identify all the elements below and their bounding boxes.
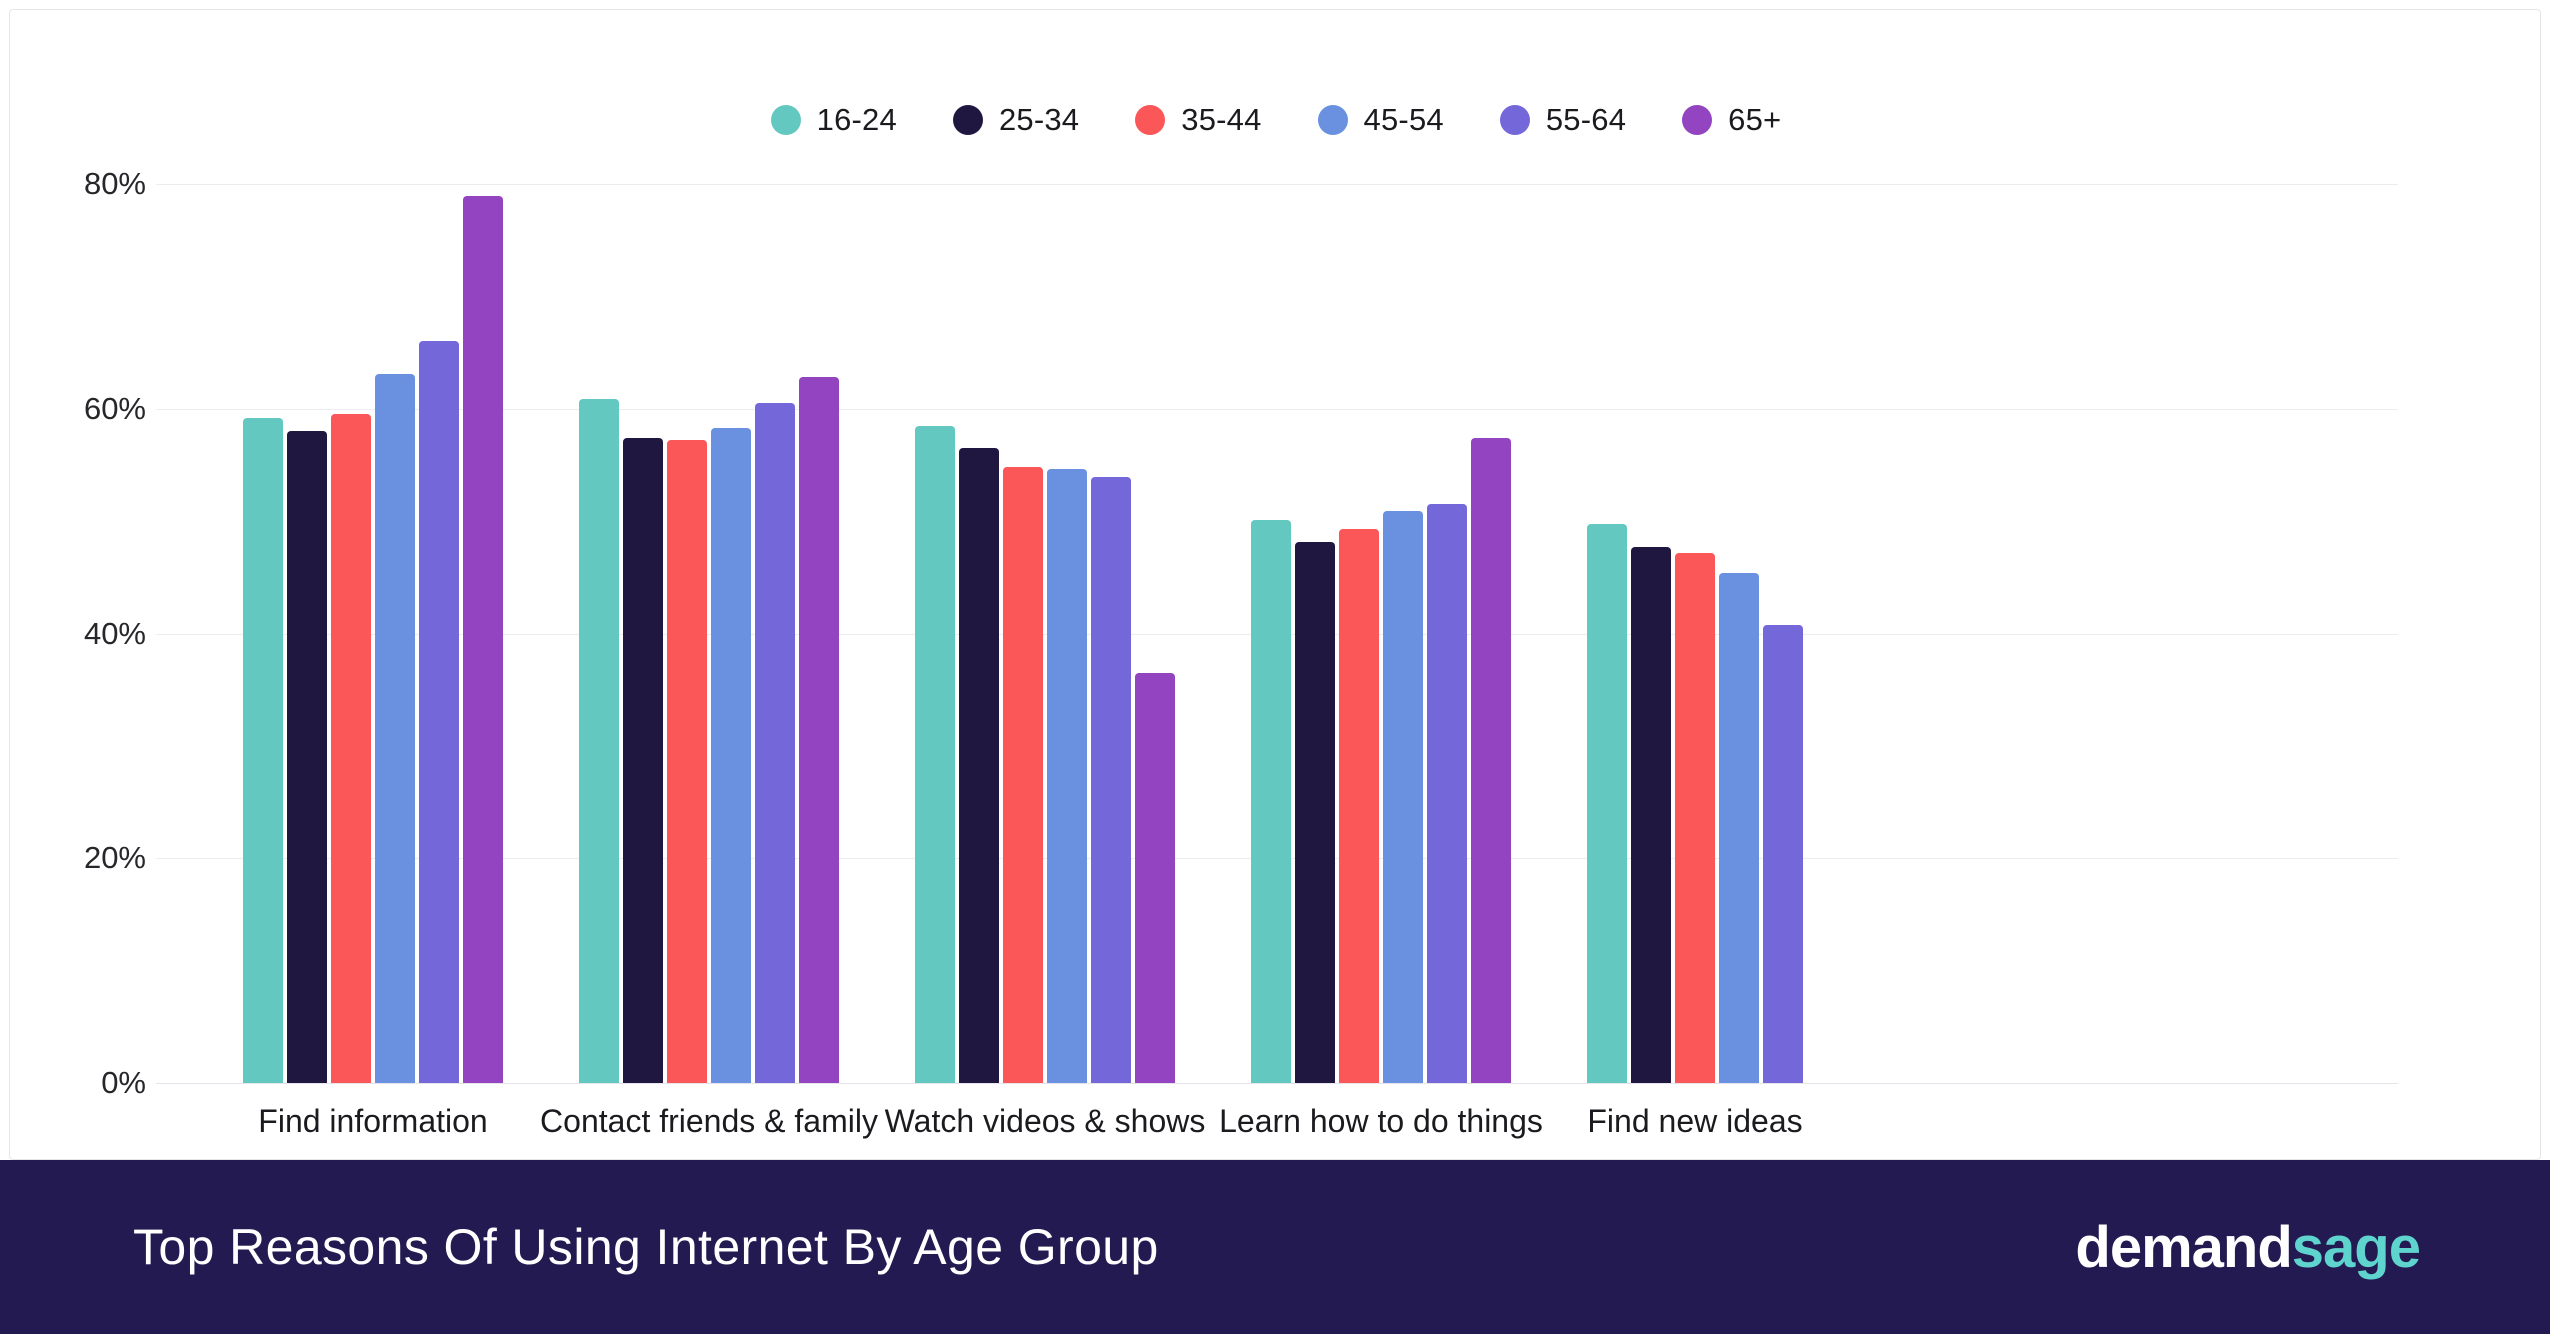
x-axis-category-label: Watch videos & shows [885,1103,1206,1140]
bar-35-44-find-information[interactable] [331,414,371,1083]
bar-35-44-contact-friends-family[interactable] [667,440,707,1083]
x-axis-category-label: Contact friends & family [540,1103,878,1140]
bar-25-34-learn-how-to-do-things[interactable] [1295,542,1335,1083]
bar-45-54-contact-friends-family[interactable] [711,428,751,1083]
bar-45-54-learn-how-to-do-things[interactable] [1383,511,1423,1083]
footer-title: Top Reasons Of Using Internet By Age Gro… [133,1218,1159,1276]
x-axis-category-label: Find new ideas [1587,1103,1802,1140]
chart-card: 16-2425-3435-4445-5455-6465+ 0%20%40%60%… [9,9,2541,1160]
bar-35-44-find-new-ideas[interactable] [1675,553,1715,1083]
x-axis-category-label: Find information [258,1103,487,1140]
bar-45-54-find-new-ideas[interactable] [1719,573,1759,1083]
bar-65+-watch-videos-shows[interactable] [1135,673,1175,1083]
bar-series-container [10,10,2542,1161]
footer-bar: Top Reasons Of Using Internet By Age Gro… [0,1160,2550,1334]
bar-35-44-learn-how-to-do-things[interactable] [1339,529,1379,1083]
logo-sage-text: sage [2292,1215,2420,1280]
x-axis-category-label: Learn how to do things [1219,1103,1543,1140]
logo-demand-text: demand [2075,1215,2291,1280]
bar-25-34-find-new-ideas[interactable] [1631,547,1671,1083]
bar-16-24-contact-friends-family[interactable] [579,399,619,1083]
demandsage-logo: demandsage [2075,1214,2420,1281]
bar-16-24-watch-videos-shows[interactable] [915,426,955,1083]
bar-16-24-find-information[interactable] [243,418,283,1083]
bar-55-64-learn-how-to-do-things[interactable] [1427,504,1467,1083]
bar-55-64-find-information[interactable] [419,341,459,1083]
bar-55-64-contact-friends-family[interactable] [755,403,795,1083]
bar-45-54-watch-videos-shows[interactable] [1047,469,1087,1083]
bar-25-34-find-information[interactable] [287,431,327,1083]
bar-25-34-watch-videos-shows[interactable] [959,448,999,1083]
chart-page: 16-2425-3435-4445-5455-6465+ 0%20%40%60%… [0,0,2550,1334]
bar-45-54-find-information[interactable] [375,374,415,1083]
bar-55-64-watch-videos-shows[interactable] [1091,477,1131,1083]
bar-16-24-find-new-ideas[interactable] [1587,524,1627,1083]
bar-65+-find-information[interactable] [463,196,503,1083]
plot-area: 0%20%40%60%80% Find informationContact f… [10,10,2542,1161]
bar-16-24-learn-how-to-do-things[interactable] [1251,520,1291,1083]
bar-35-44-watch-videos-shows[interactable] [1003,467,1043,1083]
bar-55-64-find-new-ideas[interactable] [1763,625,1803,1083]
bar-65+-contact-friends-family[interactable] [799,377,839,1083]
bar-25-34-contact-friends-family[interactable] [623,438,663,1083]
bar-65+-learn-how-to-do-things[interactable] [1471,438,1511,1083]
